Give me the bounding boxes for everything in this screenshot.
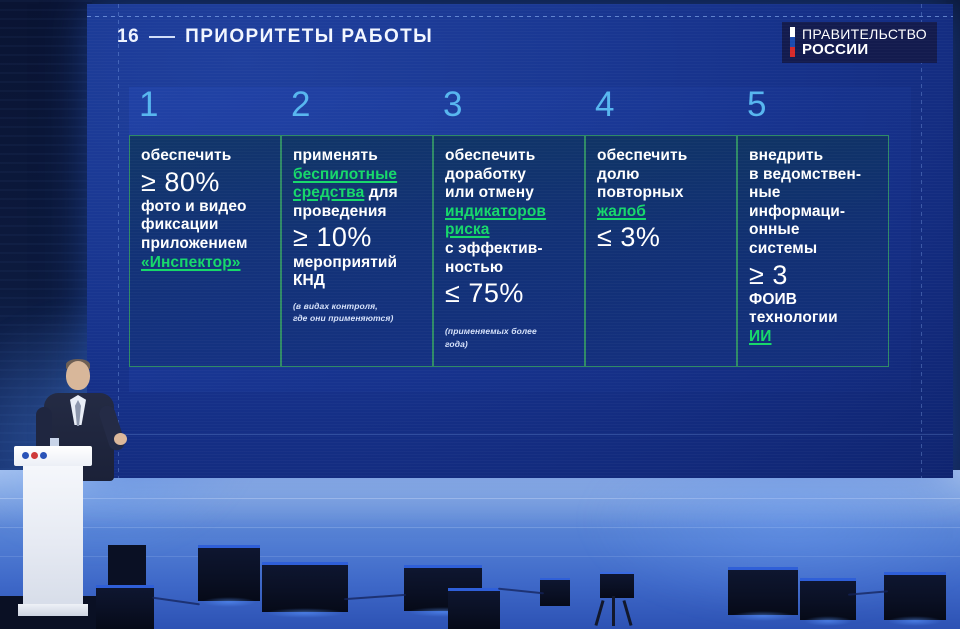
auditorium-hall: 16 ПРИОРИТЕТЫ РАБОТЫ ПРАВИТЕЛЬСТВО РОССИ… [0, 0, 960, 629]
stage-monitor [198, 545, 260, 601]
card3-note-line2: года) [445, 339, 468, 349]
card3-line7: ностью [445, 259, 503, 276]
card2-highlight-1: беспилотные [293, 166, 397, 183]
priority-card-1: обеспечить ≥ 80% фото и видео фиксации п… [129, 135, 281, 367]
card1-metric: ≥ 80% [141, 167, 269, 197]
card5-line9: технологии [749, 309, 838, 326]
card3-metric: ≤ 75% [445, 278, 573, 308]
screen-guide-line [87, 434, 953, 435]
card1-line3: фото и видео [141, 198, 247, 215]
projection-screen: 16 ПРИОРИТЕТЫ РАБОТЫ ПРАВИТЕЛЬСТВО РОССИ… [87, 4, 953, 478]
card4-line1: обеспечить [597, 147, 687, 164]
podium-base [18, 604, 88, 616]
card5-line3: ные [749, 184, 781, 201]
card1-line5: приложением [141, 235, 248, 252]
priority-card-5-text: внедрить в ведомствен- ные информаци- он… [749, 147, 877, 347]
card3-line2: доработку [445, 166, 526, 183]
card5-line5: онные [749, 221, 800, 238]
card5-line6: системы [749, 240, 817, 257]
priority-card-4: обеспечить долю повторных жалоб ≤ 3% [585, 135, 737, 367]
card2-highlight-2: средства [293, 184, 364, 201]
stage-monitor [728, 567, 798, 615]
card2-line7: КНД [293, 272, 325, 289]
column-number-1: 1 [129, 87, 281, 135]
card5-metric: ≥ 3 [749, 260, 877, 290]
stage-monitor [448, 588, 500, 629]
card4-highlight: жалоб [597, 203, 646, 220]
card3-note-line1: (применяемых более [445, 326, 537, 336]
podium-top-surface [14, 446, 92, 466]
slide-number: 16 [117, 26, 139, 48]
column-number-2: 2 [281, 87, 433, 135]
card3-line6: с эффектив- [445, 240, 543, 257]
card5-line8: ФОИВ [749, 291, 797, 308]
priority-column-4: 4 обеспечить долю повторных жалоб ≤ 3% [585, 87, 737, 397]
stage-monitor [884, 572, 946, 620]
card2-line4: проведения [293, 203, 387, 220]
speaker-hand [114, 433, 127, 445]
stage-monitor [262, 562, 348, 612]
card3-line1: обеспечить [445, 147, 535, 164]
priority-card-2-text: применять беспилотные средства для прове… [293, 147, 421, 291]
camera-tripod [612, 596, 615, 626]
stage-monitor [540, 578, 570, 606]
russian-flag-icon [790, 27, 795, 57]
card5-line1: внедрить [749, 147, 823, 164]
government-logo: ПРАВИТЕЛЬСТВО РОССИИ [782, 22, 937, 63]
card2-note-line2: где они применяются) [293, 313, 393, 323]
logo-line-1: ПРАВИТЕЛЬСТВО [802, 27, 927, 42]
column-number-5: 5 [737, 87, 889, 135]
priority-card-2-note: (в видах контроля, где они применяются) [293, 300, 421, 325]
card2-line3b: для [364, 184, 397, 201]
priorities-columns: 1 обеспечить ≥ 80% фото и видео фиксации… [129, 87, 929, 397]
slide-dash-separator [149, 36, 175, 38]
card1-highlight: «Инспектор» [141, 254, 241, 271]
column-number-3: 3 [433, 87, 585, 135]
card4-line3: повторных [597, 184, 684, 201]
logo-line-2: РОССИИ [802, 42, 927, 58]
card4-metric: ≤ 3% [597, 222, 725, 252]
podium-event-logo [22, 451, 66, 460]
priority-column-5: 5 внедрить в ведомствен- ные информаци- … [737, 87, 889, 397]
priority-column-1: 1 обеспечить ≥ 80% фото и видео фиксации… [129, 87, 281, 397]
card5-highlight: ИИ [749, 328, 771, 345]
priority-card-3-text: обеспечить доработку или отмену индикато… [445, 147, 573, 308]
card3-line3: или отмену [445, 184, 534, 201]
speaker-head [66, 361, 90, 390]
priority-card-3-note: (применяемых более года) [445, 325, 573, 350]
card3-highlight-2: риска [445, 221, 490, 238]
priority-column-2: 2 применять беспилотные средства для про… [281, 87, 433, 397]
podium-body [23, 466, 83, 606]
card4-line2: долю [597, 166, 639, 183]
card5-line2: в ведомствен- [749, 166, 861, 183]
screen-top-dashed-line [87, 16, 953, 17]
stage-monitor [96, 585, 154, 629]
stage-monitor [800, 578, 856, 620]
card2-line1: применять [293, 147, 378, 164]
priority-card-1-text: обеспечить ≥ 80% фото и видео фиксации п… [141, 147, 269, 272]
priority-card-5: внедрить в ведомствен- ные информаци- он… [737, 135, 889, 367]
card2-metric: ≥ 10% [293, 222, 421, 252]
podium [14, 446, 92, 618]
card2-line6: мероприятий [293, 254, 397, 271]
card1-line1: обеспечить [141, 147, 231, 164]
priority-card-3: обеспечить доработку или отмену индикато… [433, 135, 585, 367]
slide-header: 16 ПРИОРИТЕТЫ РАБОТЫ [117, 26, 433, 48]
priority-card-4-text: обеспечить долю повторных жалоб ≤ 3% [597, 147, 725, 253]
card1-line4: фиксации [141, 216, 218, 233]
card2-note-line1: (в видах контроля, [293, 301, 378, 311]
card3-highlight-1: индикаторов [445, 203, 546, 220]
priority-card-2: применять беспилотные средства для прове… [281, 135, 433, 367]
card5-line4: информаци- [749, 203, 845, 220]
camera-body [600, 572, 634, 598]
priority-column-3: 3 обеспечить доработку или отмену индика… [433, 87, 585, 397]
page-title: ПРИОРИТЕТЫ РАБОТЫ [185, 26, 433, 48]
column-number-4: 4 [585, 87, 737, 135]
